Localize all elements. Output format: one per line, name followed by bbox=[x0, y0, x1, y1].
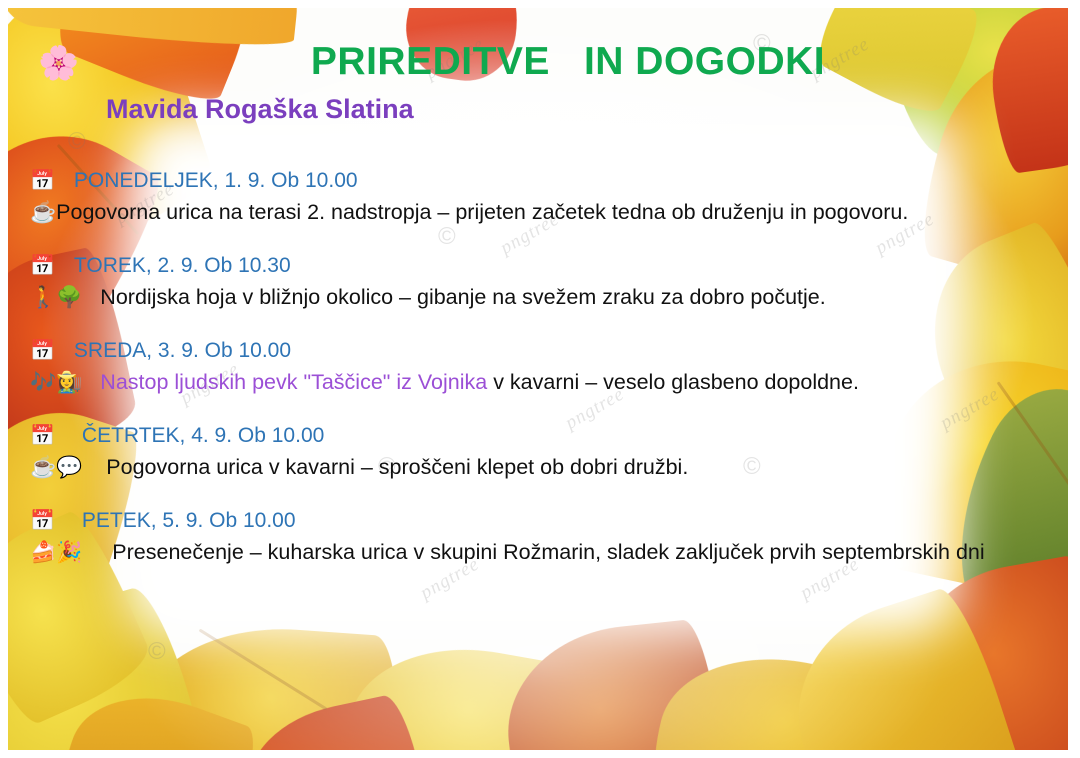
event-description: 🎶👩‍🌾Nastop ljudskih pevk "Taščice" iz Vo… bbox=[30, 367, 1060, 398]
event-heading-text: TOREK, 2. 9. Ob 10.30 bbox=[64, 254, 291, 277]
hot-beverage-icon: ☕ bbox=[30, 201, 56, 224]
walking-person-tree-icon: 🚶🌳 bbox=[30, 286, 82, 309]
event-item: 📅TOREK, 2. 9. Ob 10.30 🚶🌳Nordijska hoja … bbox=[30, 251, 1060, 313]
event-heading-text: PONEDELJEK, 1. 9. Ob 10.00 bbox=[64, 169, 358, 192]
title-part-1: PRIREDITVE bbox=[311, 40, 550, 83]
poster-canvas: pngtree pngtree pngtree pngtree pngtree … bbox=[8, 8, 1068, 750]
hot-beverage-speech-balloon-icon: ☕💬 bbox=[30, 456, 82, 479]
event-description-text: Nordijska hoja v bližnjo okolico – giban… bbox=[82, 285, 825, 309]
event-heading-text: SREDA, 3. 9. Ob 10.00 bbox=[64, 339, 291, 362]
event-description: ☕Pogovorna urica na terasi 2. nadstropja… bbox=[30, 197, 1060, 228]
events-list: 📅PONEDELJEK, 1. 9. Ob 10.00 ☕Pogovorna u… bbox=[30, 166, 1060, 591]
event-heading: 📅PETEK, 5. 9. Ob 10.00 bbox=[30, 506, 1060, 536]
event-description: ☕💬Pogovorna urica v kavarni – sproščeni … bbox=[30, 452, 1060, 483]
title-part-2: IN DOGODKI bbox=[584, 40, 825, 83]
event-description-text: Presenečenje – kuharska urica v skupini … bbox=[82, 540, 984, 564]
page-subtitle: Mavida Rogaška Slatina bbox=[106, 94, 414, 125]
calendar-icon: 📅 bbox=[30, 510, 55, 532]
music-notes-singer-icon: 🎶👩‍🌾 bbox=[30, 371, 82, 394]
cake-party-popper-icon: 🍰🎉 bbox=[30, 541, 82, 564]
event-item: 📅SREDA, 3. 9. Ob 10.00 🎶👩‍🌾Nastop ljudsk… bbox=[30, 336, 1060, 398]
event-description-text: Pogovorna urica v kavarni – sproščeni kl… bbox=[82, 455, 688, 479]
event-heading: 📅PONEDELJEK, 1. 9. Ob 10.00 bbox=[30, 166, 1060, 196]
calendar-icon: 📅 bbox=[30, 255, 55, 277]
calendar-icon: 📅 bbox=[30, 425, 55, 447]
event-heading: 📅SREDA, 3. 9. Ob 10.00 bbox=[30, 336, 1060, 366]
event-description-text: v kavarni – veselo glasbeno dopoldne. bbox=[487, 370, 859, 394]
calendar-icon: 📅 bbox=[30, 170, 55, 192]
event-heading: 📅TOREK, 2. 9. Ob 10.30 bbox=[30, 251, 1060, 281]
event-item: 📅PETEK, 5. 9. Ob 10.00 🍰🎉Presenečenje – … bbox=[30, 506, 1060, 568]
poster-content: 🌸 PRIREDITVEIN DOGODKI Mavida Rogaška Sl… bbox=[8, 8, 1068, 750]
event-heading-text: PETEK, 5. 9. Ob 10.00 bbox=[64, 509, 296, 532]
event-highlight-text: Nastop ljudskih pevk "Taščice" iz Vojnik… bbox=[82, 370, 487, 394]
event-description: 🍰🎉Presenečenje – kuharska urica v skupin… bbox=[30, 537, 1052, 568]
page-title: PRIREDITVEIN DOGODKI bbox=[8, 40, 1068, 84]
calendar-icon: 📅 bbox=[30, 340, 55, 362]
event-item: 📅ČETRTEK, 4. 9. Ob 10.00 ☕💬Pogovorna uri… bbox=[30, 421, 1060, 483]
event-heading-text: ČETRTEK, 4. 9. Ob 10.00 bbox=[64, 424, 324, 447]
event-description-text: Pogovorna urica na terasi 2. nadstropja … bbox=[56, 200, 908, 224]
event-heading: 📅ČETRTEK, 4. 9. Ob 10.00 bbox=[30, 421, 1060, 451]
event-description: 🚶🌳Nordijska hoja v bližnjo okolico – gib… bbox=[30, 282, 1060, 313]
event-item: 📅PONEDELJEK, 1. 9. Ob 10.00 ☕Pogovorna u… bbox=[30, 166, 1060, 228]
